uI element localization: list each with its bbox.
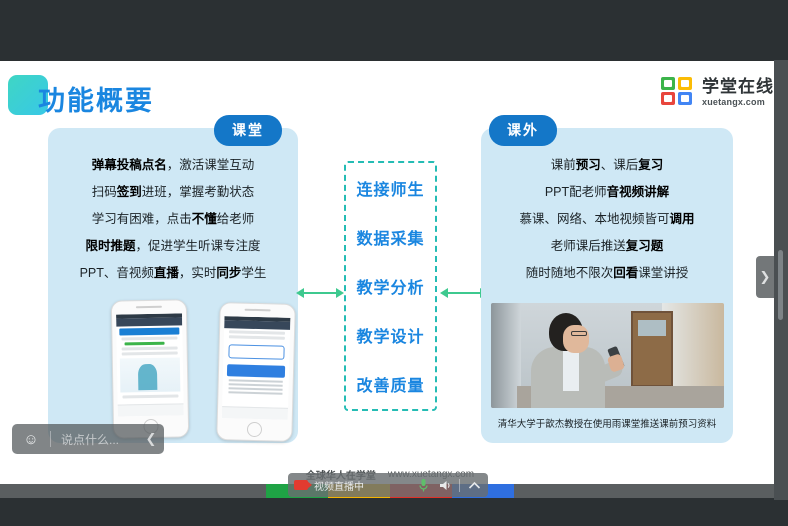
chevron-right-icon[interactable]: ❯ bbox=[756, 256, 774, 298]
page-title: 功能概要 bbox=[38, 79, 154, 118]
video-camera-icon bbox=[294, 480, 308, 490]
right-line-2: PPT配老师音视频讲解 bbox=[481, 179, 733, 206]
live-control-bar[interactable]: 视频直播中 bbox=[288, 473, 488, 497]
left-line-2: 扫码签到进班，掌握考勤状态 bbox=[48, 179, 298, 206]
right-line-1: 课前预习、课后复习 bbox=[481, 152, 733, 179]
logo-domain: xuetangx.com bbox=[702, 98, 774, 107]
right-line-4: 老师课后推送复习题 bbox=[481, 233, 733, 260]
brand-logo: 学堂在线 xuetangx.com bbox=[661, 77, 774, 107]
left-panel-classroom: 课堂 弹幕投稿点名，激活课堂互动 扫码签到进班，掌握考勤状态 学习有困难，点击不… bbox=[48, 128, 298, 443]
left-line-3: 学习有困难，点击不懂给老师 bbox=[48, 206, 298, 233]
letterbox-bottom bbox=[0, 498, 788, 526]
right-panel-lines: 课前预习、课后复习 PPT配老师音视频讲解 慕课、网络、本地视频皆可调用 老师课… bbox=[481, 152, 733, 287]
book-logo-icon bbox=[661, 77, 695, 107]
speaker-icon[interactable] bbox=[437, 479, 453, 492]
chevron-left-icon[interactable]: ❮ bbox=[138, 431, 164, 447]
video-player-viewport: 功能概要 学堂在线 xuetangx.com 课堂 弹幕投稿点名，激活课堂互动 … bbox=[0, 0, 788, 526]
left-line-4: 限时推题，促进学生听课专注度 bbox=[48, 233, 298, 260]
microphone-icon[interactable] bbox=[415, 478, 431, 493]
phone-mockups bbox=[60, 300, 286, 440]
capability-item-2: 数据采集 bbox=[356, 225, 424, 249]
right-line-3: 慕课、网络、本地视频皆可调用 bbox=[481, 206, 733, 233]
left-line-5: PPT、音视频直播，实时同步学生 bbox=[48, 260, 298, 287]
capability-item-4: 教学设计 bbox=[356, 323, 424, 347]
phone-mockup-right bbox=[216, 302, 296, 442]
capability-item-3: 教学分析 bbox=[356, 274, 424, 298]
live-status-text: 视频直播中 bbox=[314, 478, 364, 493]
control-divider bbox=[459, 479, 460, 492]
chevron-up-icon[interactable] bbox=[466, 481, 482, 490]
page-scrollbar[interactable] bbox=[774, 60, 788, 500]
comment-input-bar[interactable]: ☺ 说点什么... ❮ bbox=[12, 424, 164, 454]
left-double-arrow-icon bbox=[296, 286, 344, 300]
left-panel-badge: 课堂 bbox=[214, 115, 282, 146]
capability-item-1: 连接师生 bbox=[356, 176, 424, 200]
smiley-icon[interactable]: ☺ bbox=[12, 431, 50, 448]
center-capability-box: 连接师生 数据采集 教学分析 教学设计 改善质量 bbox=[344, 161, 437, 411]
comment-input[interactable]: 说点什么... bbox=[51, 431, 138, 448]
right-panel-badge: 课外 bbox=[489, 115, 557, 146]
capability-item-5: 改善质量 bbox=[356, 372, 424, 396]
phone-mockup-left bbox=[111, 299, 189, 438]
logo-name-cn: 学堂在线 bbox=[702, 78, 774, 95]
letterbox-top bbox=[0, 0, 788, 60]
left-panel-lines: 弹幕投稿点名，激活课堂互动 扫码签到进班，掌握考勤状态 学习有困难，点击不懂给老… bbox=[48, 152, 298, 287]
professor-photo bbox=[491, 303, 724, 408]
left-line-1: 弹幕投稿点名，激活课堂互动 bbox=[48, 152, 298, 179]
photo-caption: 清华大学于歆杰教授在使用雨课堂推送课前预习资料 bbox=[481, 416, 733, 430]
right-line-5: 随时随地不限次回看课堂讲授 bbox=[481, 260, 733, 287]
